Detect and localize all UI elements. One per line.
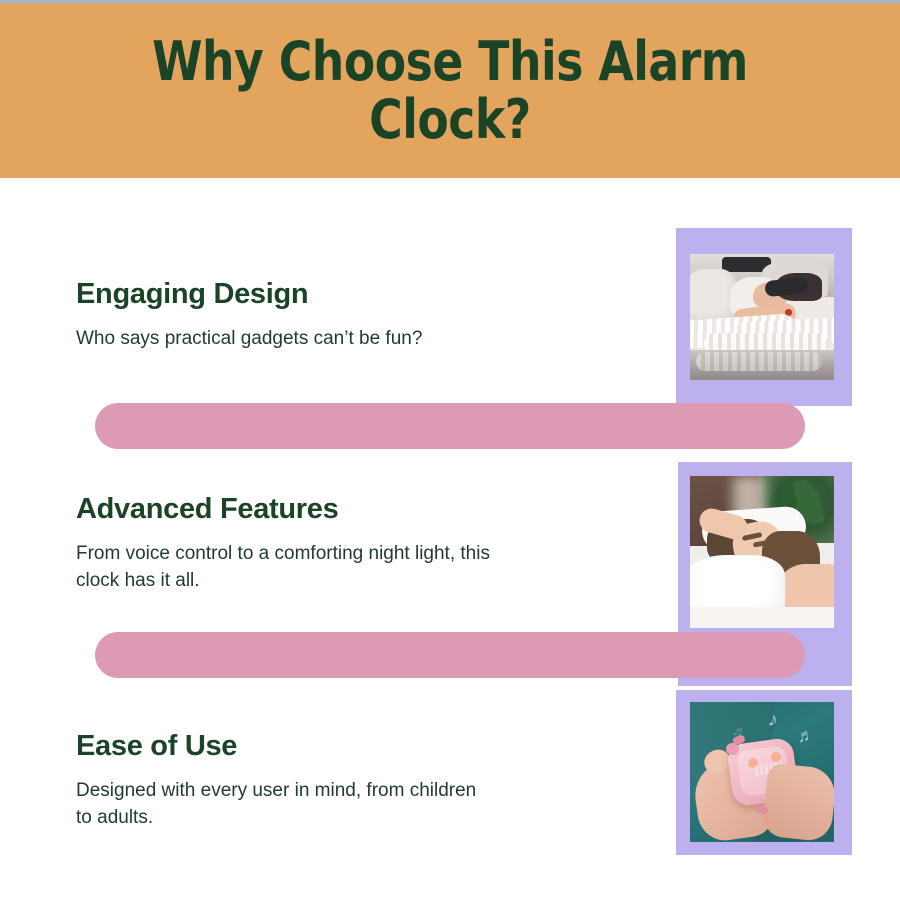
section-2-body: From voice control to a comforting night… [76, 541, 490, 595]
section-1-heading: Engaging Design [76, 278, 422, 310]
sleep-mask-photo [690, 254, 834, 380]
peaceful-sleep-photo-art [690, 476, 834, 628]
peaceful-sleep-photo [690, 476, 834, 628]
pink-alarm-clock-photo: ♬ ♪ ♫ ♪ ♬ [690, 702, 834, 842]
content-area: Engaging Design Who says practical gadge… [0, 178, 900, 923]
section-3-photo-card: ♬ ♪ ♫ ♪ ♬ [676, 690, 852, 855]
infographic-canvas: Why Choose This Alarm Clock? Engaging De… [0, 0, 900, 923]
music-note-icon: ♪ [766, 710, 779, 731]
music-note-icon: ♬ [795, 726, 815, 746]
header-band: Why Choose This Alarm Clock? [0, 4, 900, 178]
section-1-body: Who says practical gadgets can’t be fun? [76, 326, 422, 353]
section-3-text-block: Ease of Use Designed with every user in … [76, 730, 476, 832]
page-title: Why Choose This Alarm Clock? [102, 33, 798, 150]
pink-divider-2 [95, 632, 805, 678]
section-3-heading: Ease of Use [76, 730, 476, 762]
section-1-photo-card [676, 228, 852, 406]
section-2-text-block: Advanced Features From voice control to … [76, 493, 490, 595]
section-3-body: Designed with every user in mind, from c… [76, 778, 476, 832]
pink-divider-1 [95, 403, 805, 449]
section-2-heading: Advanced Features [76, 493, 490, 525]
section-1-text-block: Engaging Design Who says practical gadge… [76, 278, 422, 353]
sleep-mask-photo-art [690, 254, 834, 380]
pink-alarm-clock-photo-art: ♬ ♪ ♫ ♪ ♬ [690, 702, 834, 842]
